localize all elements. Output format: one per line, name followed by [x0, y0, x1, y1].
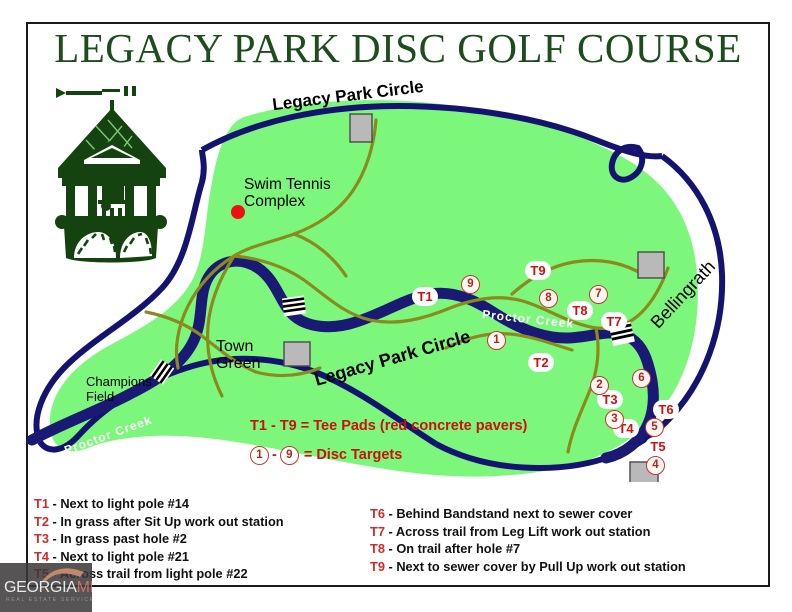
- legend-target-equals: = Disc Targets: [304, 445, 402, 465]
- tee-description-list-right: T6 - Behind Bandstand next to sewer cove…: [370, 505, 770, 575]
- tee-pad-T5[interactable]: T5: [645, 437, 671, 456]
- tee-text-T8: - On trail after hole #7: [389, 541, 521, 556]
- swim-tennis-complex-marker-dot: [231, 205, 245, 219]
- tee-description-T9: T9 - Next to sewer cover by Pull Up work…: [370, 558, 770, 576]
- tee-code-T7: T7: [370, 524, 385, 539]
- legend-target-circle-to: 9: [280, 446, 299, 465]
- disc-target-1[interactable]: 1: [487, 331, 506, 350]
- georgia-mls-watermark: GEORGIAMLS REAL ESTATE SERVICES: [0, 563, 92, 612]
- tee-code-T9: T9: [370, 559, 385, 574]
- legend-tee-pads-line: T1 - T9 = Tee Pads (red concrete pavers): [250, 416, 570, 436]
- watermark-brand: GEORGIAMLS: [4, 579, 92, 597]
- tee-code-T8: T8: [370, 541, 385, 556]
- tee-code-T1: T1: [34, 496, 49, 511]
- tee-text-T1: - Next to light pole #14: [53, 496, 190, 511]
- tee-code-T6: T6: [370, 506, 385, 521]
- tee-text-T7: - Across trail from Leg Lift work out st…: [389, 524, 651, 539]
- disc-target-4[interactable]: 4: [646, 456, 665, 475]
- tee-description-T6: T6 - Behind Bandstand next to sewer cove…: [370, 505, 770, 523]
- disc-target-8[interactable]: 8: [539, 289, 558, 308]
- disc-target-5[interactable]: 5: [645, 418, 664, 437]
- tee-pad-T1[interactable]: T1: [412, 287, 438, 306]
- tee-pad-T2[interactable]: T2: [528, 353, 554, 372]
- bandstand-gazebo-logo: [36, 82, 186, 264]
- disc-target-9[interactable]: 9: [461, 275, 480, 294]
- tee-text-T9: - Next to sewer cover by Pull Up work ou…: [389, 559, 686, 574]
- watermark-tagline: REAL ESTATE SERVICES: [6, 597, 92, 603]
- map-legend: T1 - T9 = Tee Pads (red concrete pavers)…: [250, 416, 570, 465]
- watermark-brand-secondary: MLS: [77, 579, 92, 596]
- tee-code-T2: T2: [34, 514, 49, 529]
- tee-description-T1: T1 - Next to light pole #14: [34, 495, 374, 513]
- tee-pad-T7[interactable]: T7: [601, 312, 627, 331]
- tee-text-T2: - In grass after Sit Up work out station: [53, 514, 284, 529]
- disc-target-3[interactable]: 3: [605, 410, 624, 429]
- tee-pad-T9[interactable]: T9: [525, 261, 551, 280]
- tee-text-T4: - Next to light pole #21: [53, 549, 190, 564]
- disc-target-7[interactable]: 7: [589, 285, 608, 304]
- tee-text-T3: - In grass past hole #2: [53, 531, 187, 546]
- tee-description-T3: T3 - In grass past hole #2: [34, 530, 374, 548]
- tee-pad-T8[interactable]: T8: [567, 301, 593, 320]
- tee-text-T6: - Behind Bandstand next to sewer cover: [389, 506, 633, 521]
- tee-description-T2: T2 - In grass after Sit Up work out stat…: [34, 513, 374, 531]
- disc-target-2[interactable]: 2: [590, 376, 609, 395]
- tee-pad-T6[interactable]: T6: [653, 400, 679, 419]
- legend-target-dash: -: [272, 445, 277, 465]
- tee-description-T7: T7 - Across trail from Leg Lift work out…: [370, 523, 770, 541]
- disc-golf-course-map-page: LEGACY PARK DISC GOLF COURSE: [0, 0, 792, 612]
- tee-description-T8: T8 - On trail after hole #7: [370, 540, 770, 558]
- watermark-brand-primary: GEORGIA: [4, 579, 77, 596]
- legend-disc-targets-line: 1 - 9 = Disc Targets: [250, 445, 570, 465]
- legend-target-circle-from: 1: [250, 446, 269, 465]
- tee-code-T4: T4: [34, 549, 49, 564]
- tee-code-T3: T3: [34, 531, 49, 546]
- disc-target-6[interactable]: 6: [632, 369, 651, 388]
